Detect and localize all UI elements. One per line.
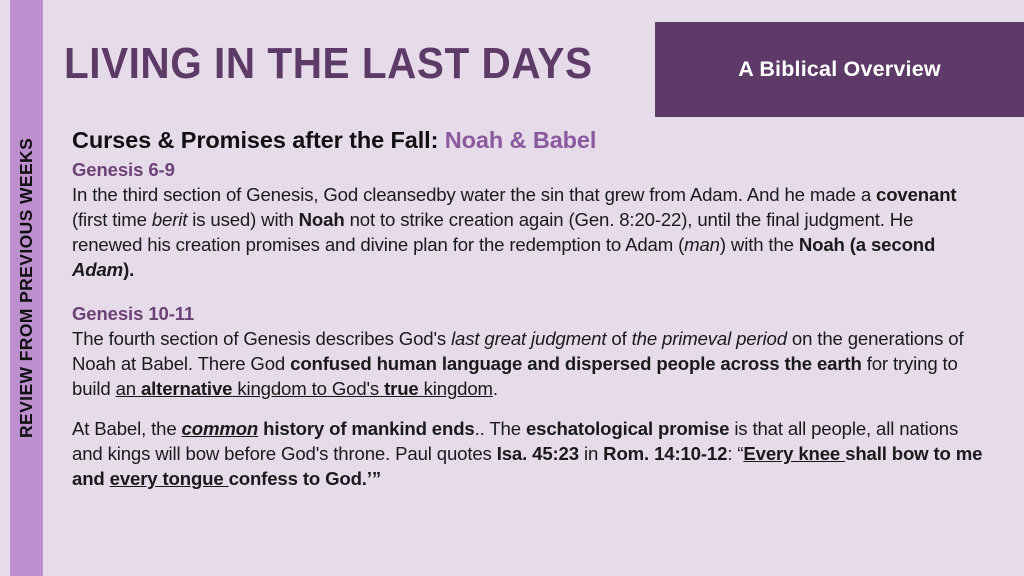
sidebar-section-label: REVIEW FROM PREVIOUS WEEKS — [10, 0, 43, 576]
block-spacer-2 — [72, 401, 984, 416]
subtitle-badge: A Biblical Overview — [655, 22, 1024, 117]
content-column: Curses & Promises after the Fall: Noah &… — [72, 126, 984, 491]
section-heading: Curses & Promises after the Fall: Noah &… — [72, 126, 984, 155]
block-spacer-1 — [72, 282, 984, 302]
section-heading-accent: Noah & Babel — [445, 127, 597, 153]
subtitle-badge-label: A Biblical Overview — [738, 57, 941, 82]
page-title: LIVING IN THE LAST DAYS — [64, 41, 593, 87]
slide-root: REVIEW FROM PREVIOUS WEEKS LIVING IN THE… — [0, 0, 1024, 576]
section-heading-main: Curses & Promises after the Fall: — [72, 127, 438, 153]
subheading-genesis-10-11: Genesis 10-11 — [72, 302, 984, 325]
paragraph-eschatology: At Babel, the common history of mankind … — [72, 416, 984, 491]
subheading-genesis-6-9: Genesis 6-9 — [72, 158, 984, 181]
paragraph-babel: The fourth section of Genesis describes … — [72, 326, 984, 401]
paragraph-noah: In the third section of Genesis, God cle… — [72, 182, 984, 282]
